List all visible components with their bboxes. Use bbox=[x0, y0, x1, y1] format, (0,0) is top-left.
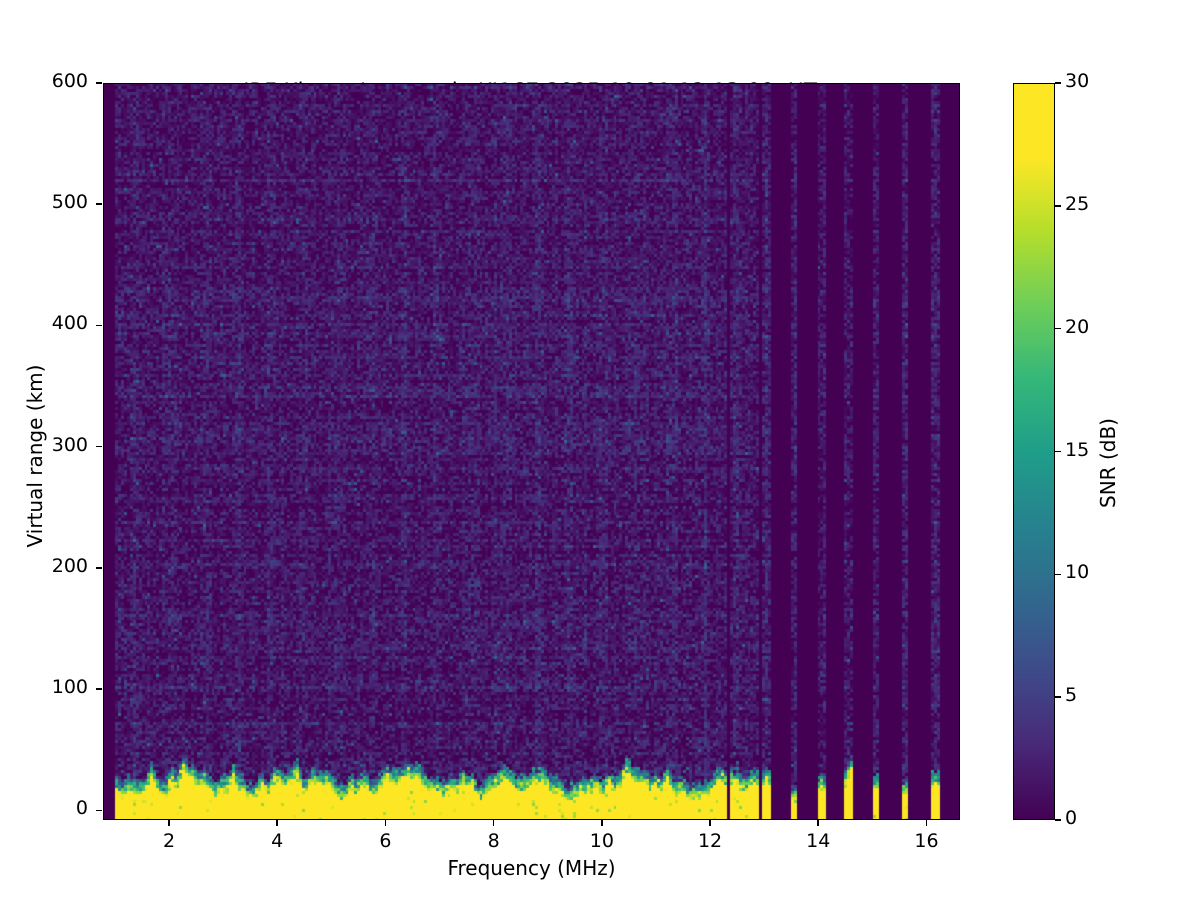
colorbar-tick-label-15: 15 bbox=[1065, 439, 1089, 461]
colorbar-tick-10 bbox=[1055, 574, 1061, 576]
colorbar-tick-20 bbox=[1055, 328, 1061, 330]
y-tick-300 bbox=[96, 446, 102, 448]
y-tick-500 bbox=[96, 203, 102, 205]
x-tick-label-4: 4 bbox=[247, 830, 307, 852]
x-tick-label-6: 6 bbox=[355, 830, 415, 852]
y-tick-600 bbox=[96, 82, 102, 84]
colorbar-tick-label-25: 25 bbox=[1065, 193, 1089, 215]
x-tick-16 bbox=[926, 820, 928, 826]
y-tick-label-500: 500 bbox=[30, 191, 88, 213]
y-tick-label-0: 0 bbox=[30, 797, 88, 819]
colorbar-tick-5 bbox=[1055, 696, 1061, 698]
x-tick-8 bbox=[493, 820, 495, 826]
colorbar-tick-0 bbox=[1055, 819, 1061, 821]
colorbar-gradient bbox=[1014, 84, 1054, 819]
x-axis-label: Frequency (MHz) bbox=[103, 856, 960, 880]
y-tick-400 bbox=[96, 325, 102, 327]
colorbar-tick-label-10: 10 bbox=[1065, 561, 1089, 583]
x-tick-6 bbox=[385, 820, 387, 826]
x-tick-2 bbox=[168, 820, 170, 826]
y-tick-label-100: 100 bbox=[30, 676, 88, 698]
colorbar-tick-15 bbox=[1055, 451, 1061, 453]
colorbar-tick-label-5: 5 bbox=[1065, 684, 1077, 706]
y-tick-label-600: 600 bbox=[30, 70, 88, 92]
colorbar-label: SNR (dB) bbox=[1096, 333, 1120, 593]
colorbar-tick-label-0: 0 bbox=[1065, 807, 1077, 829]
x-tick-label-8: 8 bbox=[464, 830, 524, 852]
ionogram-figure: IRF Kiruna Ionosonde KI167 2025-10-01 12… bbox=[0, 0, 1200, 900]
colorbar-tick-label-20: 20 bbox=[1065, 316, 1089, 338]
y-tick-200 bbox=[96, 567, 102, 569]
y-tick-0 bbox=[96, 810, 102, 812]
x-tick-4 bbox=[276, 820, 278, 826]
colorbar-tick-30 bbox=[1055, 82, 1061, 84]
x-tick-10 bbox=[601, 820, 603, 826]
plot-axes bbox=[103, 83, 960, 820]
x-tick-14 bbox=[817, 820, 819, 826]
x-tick-12 bbox=[709, 820, 711, 826]
colorbar-tick-25 bbox=[1055, 205, 1061, 207]
x-tick-label-2: 2 bbox=[139, 830, 199, 852]
x-tick-label-12: 12 bbox=[680, 830, 740, 852]
ionogram-heatmap bbox=[104, 84, 960, 820]
colorbar bbox=[1013, 83, 1055, 820]
colorbar-tick-label-30: 30 bbox=[1065, 70, 1089, 92]
y-axis-label: Virtual range (km) bbox=[23, 256, 47, 656]
x-tick-label-14: 14 bbox=[788, 830, 848, 852]
x-tick-label-16: 16 bbox=[896, 830, 956, 852]
x-tick-label-10: 10 bbox=[572, 830, 632, 852]
y-tick-100 bbox=[96, 688, 102, 690]
